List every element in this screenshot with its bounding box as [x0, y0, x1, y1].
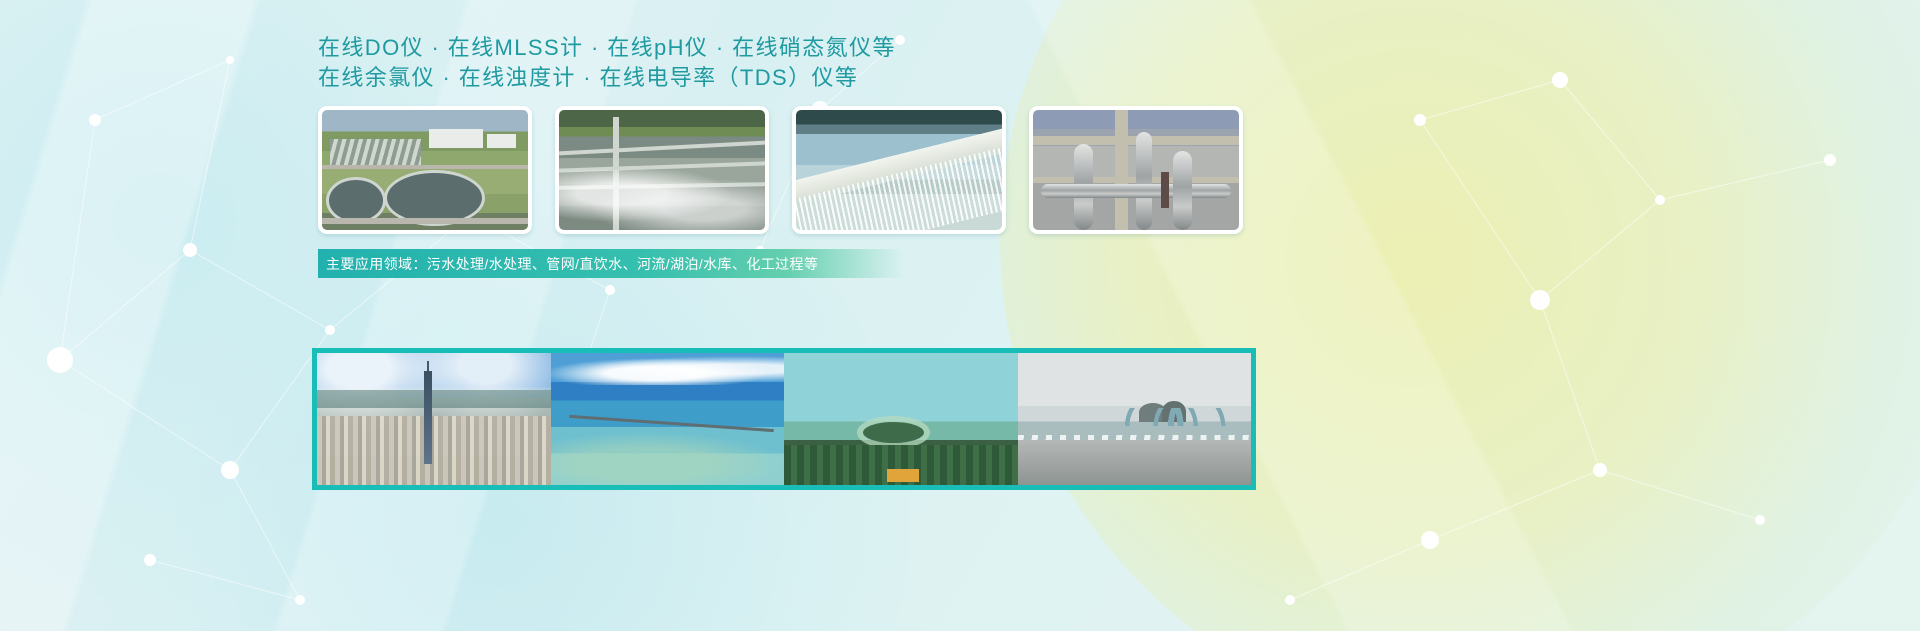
- headline-line-1: 在线DO仪 · 在线MLSS计 · 在线pH仪 · 在线硝态氮仪等: [318, 35, 896, 60]
- strip-photo-coastal-bay-bridge-aerial[interactable]: [551, 353, 785, 485]
- card-river-weir-overflow[interactable]: [792, 106, 1006, 234]
- strip-photo-taipei-city-skyline[interactable]: [317, 353, 551, 485]
- application-fields-badge: 主要应用领域：污水处理/水处理、管网/直饮水、河流/湖泊/水库、化工过程等: [318, 249, 904, 278]
- scenery-photo-strip: [312, 348, 1256, 490]
- card-wastewater-treatment-plant-aerial[interactable]: [318, 106, 532, 234]
- headline-block: 在线DO仪 · 在线MLSS计 · 在线pH仪 · 在线硝态氮仪等 在线余氯仪 …: [318, 33, 896, 93]
- product-application-card-row: [318, 106, 1243, 234]
- photo-aeration-tanks-channels: [559, 110, 765, 230]
- card-chemical-plant-piping[interactable]: [1029, 106, 1243, 234]
- application-fields-badge-text: 主要应用领域：污水处理/水处理、管网/直饮水、河流/湖泊/水库、化工过程等: [326, 254, 818, 274]
- molecular-network-pattern: [0, 0, 1920, 631]
- photo-chemical-plant-piping: [1033, 110, 1239, 230]
- photo-wastewater-treatment-plant-aerial: [322, 110, 528, 230]
- strip-photo-sanxiantai-arch-bridge-coast[interactable]: [1018, 353, 1252, 485]
- card-aeration-tanks-channels[interactable]: [555, 106, 769, 234]
- banner-stage: 在线DO仪 · 在线MLSS计 · 在线pH仪 · 在线硝态氮仪等 在线余氯仪 …: [0, 0, 1920, 631]
- headline-line-2: 在线余氯仪 · 在线浊度计 · 在线电导率（TDS）仪等: [318, 63, 896, 93]
- strip-photo-lake-island-aerial[interactable]: [784, 353, 1018, 485]
- photo-river-weir-overflow: [796, 110, 1002, 230]
